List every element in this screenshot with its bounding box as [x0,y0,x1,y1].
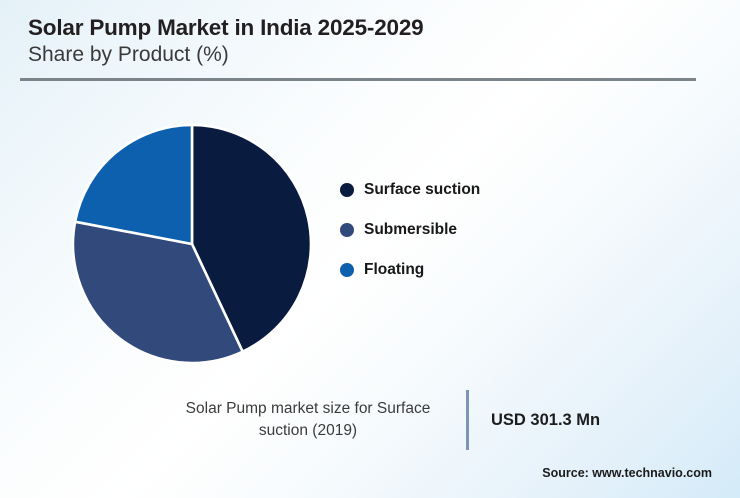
callout-value: USD 301.3 Mn [491,411,600,430]
pie-chart-svg [60,112,324,376]
chart-header: Solar Pump Market in India 2025-2029 Sha… [28,14,696,69]
pie-slice-group [73,125,311,363]
legend-dot-floating-icon [340,263,354,277]
market-size-callout: Solar Pump market size for Surface sucti… [160,388,680,452]
page-subtitle: Share by Product (%) [28,42,696,68]
page-title: Solar Pump Market in India 2025-2029 [28,14,696,42]
callout-divider [466,390,469,450]
legend-item-submersible[interactable]: Submersible [340,210,620,250]
legend-item-floating[interactable]: Floating [340,250,620,290]
source-attribution: Source: www.technavio.com [542,466,712,480]
chart-legend: Surface suction Submersible Floating [340,170,620,290]
callout-description: Solar Pump market size for Surface sucti… [160,398,456,443]
infographic-canvas: Solar Pump Market in India 2025-2029 Sha… [0,0,740,498]
legend-label-submersible: Submersible [364,221,457,239]
legend-label-surface-suction: Surface suction [364,181,480,199]
pie-slice-floating[interactable] [75,125,192,244]
legend-dot-submersible-icon [340,223,354,237]
header-divider [20,78,696,81]
pie-chart [60,112,324,376]
legend-dot-surface-suction-icon [340,183,354,197]
legend-item-surface-suction[interactable]: Surface suction [340,170,620,210]
legend-label-floating: Floating [364,261,424,279]
